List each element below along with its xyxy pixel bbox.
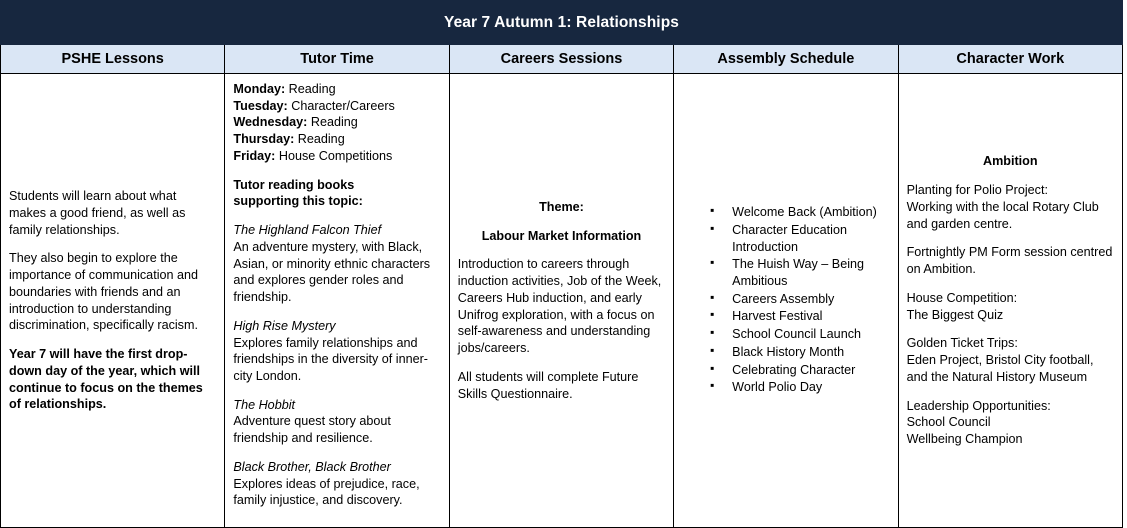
character-work-line: Planting for Polio Project: xyxy=(907,182,1114,199)
book-entry: Black Brother, Black Brother Explores id… xyxy=(233,459,440,509)
book-description-high-rise-mystery: Explores family relationships and friend… xyxy=(233,335,440,385)
content-row: Students will learn about what makes a g… xyxy=(1,74,1123,528)
tutor-day-thursday-label: Thursday: xyxy=(233,132,294,146)
book-entry: The Hobbit Adventure quest story about f… xyxy=(233,397,440,447)
column-header-row: PSHE Lessons Tutor Time Careers Sessions… xyxy=(1,45,1123,74)
book-description-black-brother-black-brother: Explores ideas of prejudice, race, famil… xyxy=(233,476,440,509)
character-work-line: Eden Project, Bristol City football, and… xyxy=(907,352,1114,385)
careers-theme-label: Theme: xyxy=(458,199,665,216)
cell-careers-sessions: Theme: Labour Market Information Introdu… xyxy=(449,74,673,528)
character-work-group-golden-ticket-trips: Golden Ticket Trips: Eden Project, Brist… xyxy=(907,335,1114,385)
tutor-day-tuesday: Tuesday: Character/Careers xyxy=(233,98,440,115)
careers-theme-value: Labour Market Information xyxy=(458,228,665,245)
pshe-paragraph-1: Students will learn about what makes a g… xyxy=(9,188,216,238)
character-work-group-polio-project: Planting for Polio Project: Working with… xyxy=(907,182,1114,232)
list-item: Welcome Back (Ambition) xyxy=(710,204,889,221)
character-work-group-pm-form-session: Fortnightly PM Form session centred on A… xyxy=(907,244,1114,277)
book-entry: High Rise Mystery Explores family relati… xyxy=(233,318,440,385)
book-title-black-brother-black-brother: Black Brother, Black Brother xyxy=(233,459,440,476)
list-item: The Huish Way – Being Ambitious xyxy=(710,256,889,289)
column-header-pshe-lessons: PSHE Lessons xyxy=(1,45,225,74)
character-work-line: Fortnightly PM Form session centred on A… xyxy=(907,244,1114,277)
character-work-group-house-competition: House Competition: The Biggest Quiz xyxy=(907,290,1114,323)
list-item: Character Education Introduction xyxy=(710,222,889,255)
tutor-day-monday: Monday: Reading xyxy=(233,81,440,98)
curriculum-overview-table: Year 7 Autumn 1: Relationships PSHE Less… xyxy=(0,0,1123,528)
cell-tutor-time: Monday: Reading Tuesday: Character/Caree… xyxy=(225,74,449,528)
assembly-schedule-list: Welcome Back (Ambition) Character Educat… xyxy=(682,204,889,396)
pshe-paragraph-2: They also begin to explore the importanc… xyxy=(9,250,216,334)
pshe-paragraph-3-highlight: Year 7 will have the first drop-down day… xyxy=(9,346,216,413)
tutor-day-tuesday-value: Character/Careers xyxy=(291,99,395,113)
book-title-the-hobbit: The Hobbit xyxy=(233,397,440,414)
tutor-day-thursday-value: Reading xyxy=(298,132,345,146)
column-header-assembly-schedule: Assembly Schedule xyxy=(674,45,898,74)
tutor-day-friday-label: Friday: xyxy=(233,149,275,163)
list-item: World Polio Day xyxy=(710,379,889,396)
character-work-line: Leadership Opportunities: xyxy=(907,398,1114,415)
character-work-line: School Council xyxy=(907,414,1114,431)
tutor-day-monday-value: Reading xyxy=(289,82,336,96)
character-work-line: The Biggest Quiz xyxy=(907,307,1114,324)
tutor-day-tuesday-label: Tuesday: xyxy=(233,99,287,113)
tutor-reading-books-heading: Tutor reading books supporting this topi… xyxy=(233,177,440,210)
table-title: Year 7 Autumn 1: Relationships xyxy=(1,1,1123,45)
cell-assembly-schedule: Welcome Back (Ambition) Character Educat… xyxy=(674,74,898,528)
tutor-books-heading-line-2: supporting this topic: xyxy=(233,193,440,210)
tutor-time-weekly-schedule: Monday: Reading Tuesday: Character/Caree… xyxy=(233,81,440,165)
column-header-tutor-time: Tutor Time xyxy=(225,45,449,74)
cell-pshe-lessons: Students will learn about what makes a g… xyxy=(1,74,225,528)
book-title-high-rise-mystery: High Rise Mystery xyxy=(233,318,440,335)
tutor-day-friday-value: House Competitions xyxy=(279,149,392,163)
tutor-books-heading-line-1: Tutor reading books xyxy=(233,177,440,194)
list-item: Harvest Festival xyxy=(710,308,889,325)
character-work-heading: Ambition xyxy=(907,153,1114,170)
tutor-day-thursday: Thursday: Reading xyxy=(233,131,440,148)
column-header-character-work: Character Work xyxy=(898,45,1122,74)
cell-character-work: Ambition Planting for Polio Project: Wor… xyxy=(898,74,1122,528)
tutor-day-friday: Friday: House Competitions xyxy=(233,148,440,165)
book-description-the-hobbit: Adventure quest story about friendship a… xyxy=(233,413,440,446)
book-entry: The Highland Falcon Thief An adventure m… xyxy=(233,222,440,306)
character-work-line: Working with the local Rotary Club and g… xyxy=(907,199,1114,232)
tutor-day-wednesday-label: Wednesday: xyxy=(233,115,307,129)
list-item: Celebrating Character xyxy=(710,362,889,379)
careers-paragraph-2: All students will complete Future Skills… xyxy=(458,369,665,402)
careers-paragraph-1: Introduction to careers through inductio… xyxy=(458,256,665,356)
character-work-line: Wellbeing Champion xyxy=(907,431,1114,448)
character-work-line: Golden Ticket Trips: xyxy=(907,335,1114,352)
book-description-highland-falcon-thief: An adventure mystery, with Black, Asian,… xyxy=(233,239,440,306)
book-title-highland-falcon-thief: The Highland Falcon Thief xyxy=(233,222,440,239)
list-item: School Council Launch xyxy=(710,326,889,343)
spacer xyxy=(233,165,440,177)
list-item: Black History Month xyxy=(710,344,889,361)
column-header-careers-sessions: Careers Sessions xyxy=(449,45,673,74)
title-row: Year 7 Autumn 1: Relationships xyxy=(1,1,1123,45)
tutor-day-wednesday-value: Reading xyxy=(311,115,358,129)
tutor-day-wednesday: Wednesday: Reading xyxy=(233,114,440,131)
spacer xyxy=(233,210,440,222)
character-work-group-leadership-opportunities: Leadership Opportunities: School Council… xyxy=(907,398,1114,448)
tutor-day-monday-label: Monday: xyxy=(233,82,285,96)
list-item: Careers Assembly xyxy=(710,291,889,308)
character-work-line: House Competition: xyxy=(907,290,1114,307)
